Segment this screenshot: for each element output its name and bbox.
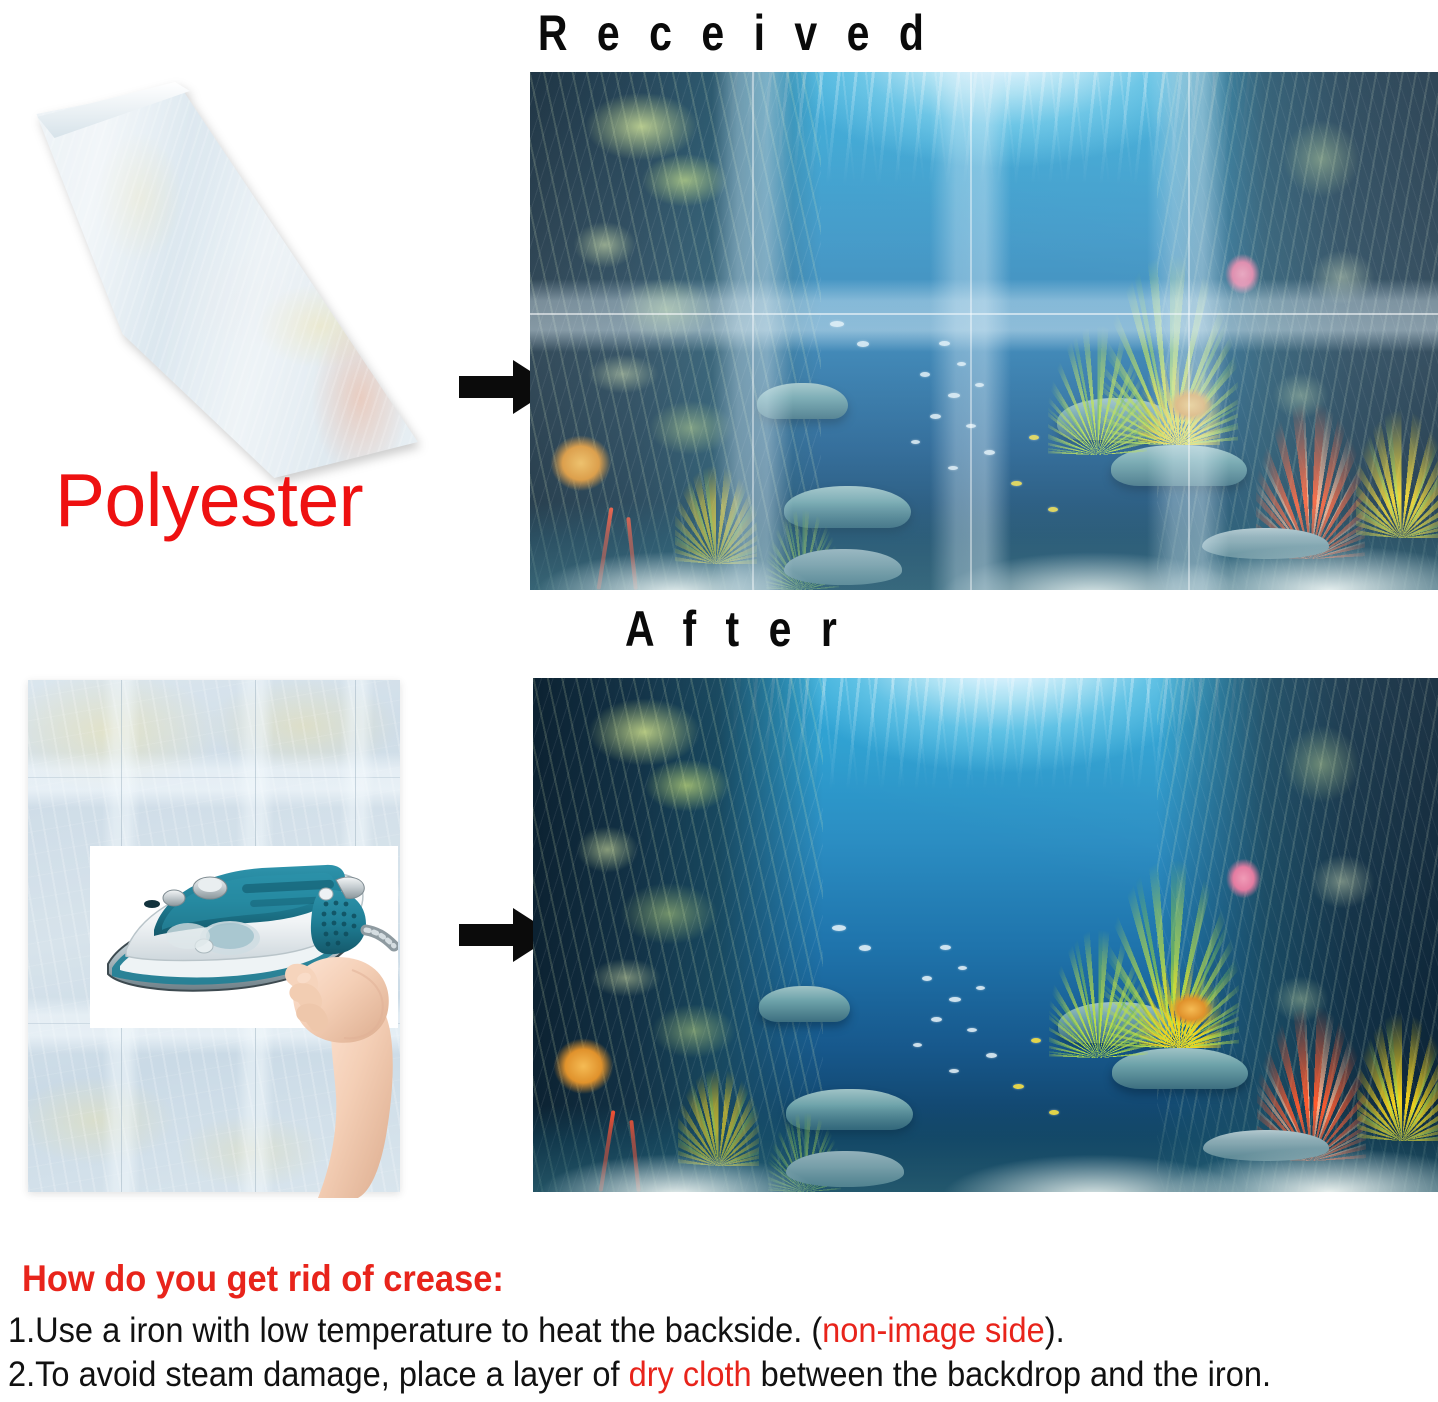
after-backdrop-image [533,678,1438,1192]
instruction-line-2-prefix: 2.To avoid steam damage, place a layer o… [8,1355,629,1394]
fish [949,997,961,1002]
rock-ledge [759,986,850,1022]
instruction-line-1-suffix: ). [1045,1311,1065,1350]
orange-coral [551,1038,623,1105]
fish [948,466,958,470]
seabed-sand [533,1105,1438,1192]
yellow-fish [1013,1084,1024,1089]
orange-coral [1166,388,1220,429]
instruction-line-2-highlight: dry cloth [629,1355,752,1394]
material-label: Polyester [55,457,363,543]
clothes-iron-icon [90,846,398,1028]
fish [949,1069,959,1073]
fabric-sheen [16,78,426,478]
fish [913,1043,922,1047]
orange-coral [548,435,621,502]
after-heading: A f t e r [129,600,1308,658]
green-seaweed [1048,321,1148,456]
fish [957,362,966,366]
pink-coral [1220,248,1265,300]
instruction-line-2: 2.To avoid steam damage, place a layer o… [8,1355,1271,1395]
fish [832,925,846,931]
instruction-line-1-prefix: 1.Use a iron with low temperature to hea… [8,1311,822,1350]
fish [958,966,967,970]
fish [830,321,844,327]
ironing-photo-panel [90,846,398,1028]
pink-coral [1221,853,1266,904]
fish [911,440,920,444]
yellow-fish [1031,1038,1041,1043]
instruction-line-1: 1.Use a iron with low temperature to hea… [8,1311,1065,1351]
yellow-fish [1049,1110,1059,1115]
instructions-title: How do you get rid of crease: [22,1258,504,1300]
instruction-line-2-suffix: between the backdrop and the iron. [752,1355,1271,1394]
fish [975,383,984,387]
folded-fabric-photo [16,78,426,478]
green-seaweed [1049,925,1149,1059]
fish [986,1053,997,1058]
yellow-fish [1029,435,1039,440]
received-backdrop-image [530,72,1438,590]
seabed-sand [530,502,1438,590]
fish [967,1028,977,1032]
fish [930,414,941,419]
product-instruction-sheet: R e c e i v e d A f t e r Polyester [0,0,1438,1402]
received-heading: R e c e i v e d [129,4,1308,62]
orange-coral [1167,992,1221,1033]
instruction-line-1-highlight: non-image side [822,1311,1045,1350]
fish [948,393,960,398]
rock-ledge [757,383,848,419]
yellow-fish [1048,507,1058,512]
